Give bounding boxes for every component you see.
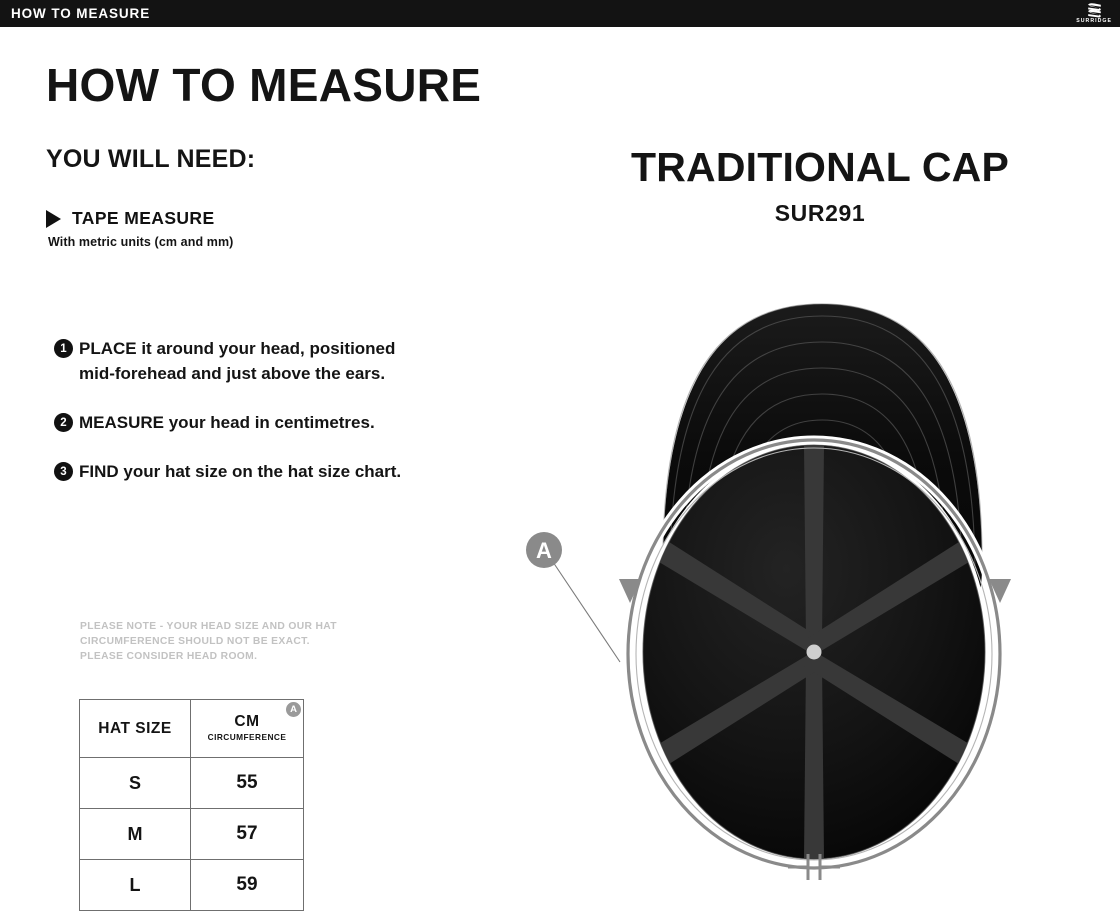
cell-hat-size: M: [80, 809, 191, 860]
table-row: M 57: [80, 809, 304, 860]
right-illustration-column: TRADITIONAL CAP SUR291: [520, 27, 1120, 883]
brand-name: SURRIDGE: [1076, 19, 1112, 24]
list-item: 2 MEASURE your head in centimetres.: [54, 410, 454, 435]
brand-logo: SURRIDGE: [1076, 3, 1112, 24]
instruction-steps-list: 1 PLACE it around your head, positioned …: [54, 336, 454, 509]
table-header-row: HAT SIZE A CM CIRCUMFERENCE: [80, 700, 304, 758]
cell-hat-size: S: [80, 758, 191, 809]
column-header-hat-size: HAT SIZE: [80, 700, 191, 758]
cell-circumference: 57: [191, 809, 304, 860]
step-text: FIND your hat size on the hat size chart…: [79, 459, 401, 484]
table-row: S 55: [80, 758, 304, 809]
left-content-column: HOW TO MEASURE YOU WILL NEED: TAPE MEASU…: [0, 27, 560, 883]
list-item: 1 PLACE it around your head, positioned …: [54, 336, 454, 386]
page-title: HOW TO MEASURE: [46, 62, 481, 108]
cell-circumference: 59: [191, 860, 304, 911]
table-row: L 59: [80, 860, 304, 911]
tool-item-tape-measure: TAPE MEASURE: [46, 210, 215, 228]
disclaimer-line: PLEASE CONSIDER HEAD ROOM.: [80, 649, 337, 664]
step-text: PLACE it around your head, positioned mi…: [79, 336, 409, 386]
disclaimer-note: PLEASE NOTE - YOUR HEAD SIZE AND OUR HAT…: [80, 619, 337, 664]
product-code: SUR291: [520, 202, 1120, 225]
triangle-right-icon: [46, 210, 61, 228]
traditional-cap-top-view-illustration: A: [520, 262, 1120, 882]
column-header-sublabel: CIRCUMFERENCE: [191, 732, 303, 742]
measure-point-a-badge-icon: A: [286, 702, 301, 717]
column-header-label: HAT SIZE: [98, 720, 171, 737]
cell-circumference: 55: [191, 758, 304, 809]
tool-name-label: TAPE MEASURE: [72, 210, 215, 228]
measure-point-a-callout: A: [526, 532, 620, 662]
column-header-cm: A CM CIRCUMFERENCE: [191, 700, 304, 758]
step-number-badge: 1: [54, 339, 73, 358]
step-number-badge: 3: [54, 462, 73, 481]
callout-leader-line: [553, 562, 620, 662]
cell-hat-size: L: [80, 860, 191, 911]
step-number-badge: 2: [54, 413, 73, 432]
hat-size-chart-table: HAT SIZE A CM CIRCUMFERENCE S 55 M 57 L …: [79, 699, 304, 911]
step-text: MEASURE your head in centimetres.: [79, 410, 375, 435]
tool-subtitle: With metric units (cm and mm): [48, 236, 233, 249]
surridge-s-logo-icon: [1086, 3, 1103, 18]
list-item: 3 FIND your hat size on the hat size cha…: [54, 459, 454, 484]
disclaimer-line: PLEASE NOTE - YOUR HEAD SIZE AND OUR HAT: [80, 619, 337, 634]
crown-center-button-icon: [807, 645, 822, 660]
you-will-need-heading: YOU WILL NEED:: [46, 147, 255, 172]
product-title: TRADITIONAL CAP: [520, 147, 1120, 188]
measure-point-a-label: A: [536, 538, 552, 563]
top-header-bar: HOW TO MEASURE SURRIDGE: [0, 0, 1120, 27]
disclaimer-line: CIRCUMFERENCE SHOULD NOT BE EXACT.: [80, 634, 337, 649]
header-title: HOW TO MEASURE: [11, 7, 150, 21]
